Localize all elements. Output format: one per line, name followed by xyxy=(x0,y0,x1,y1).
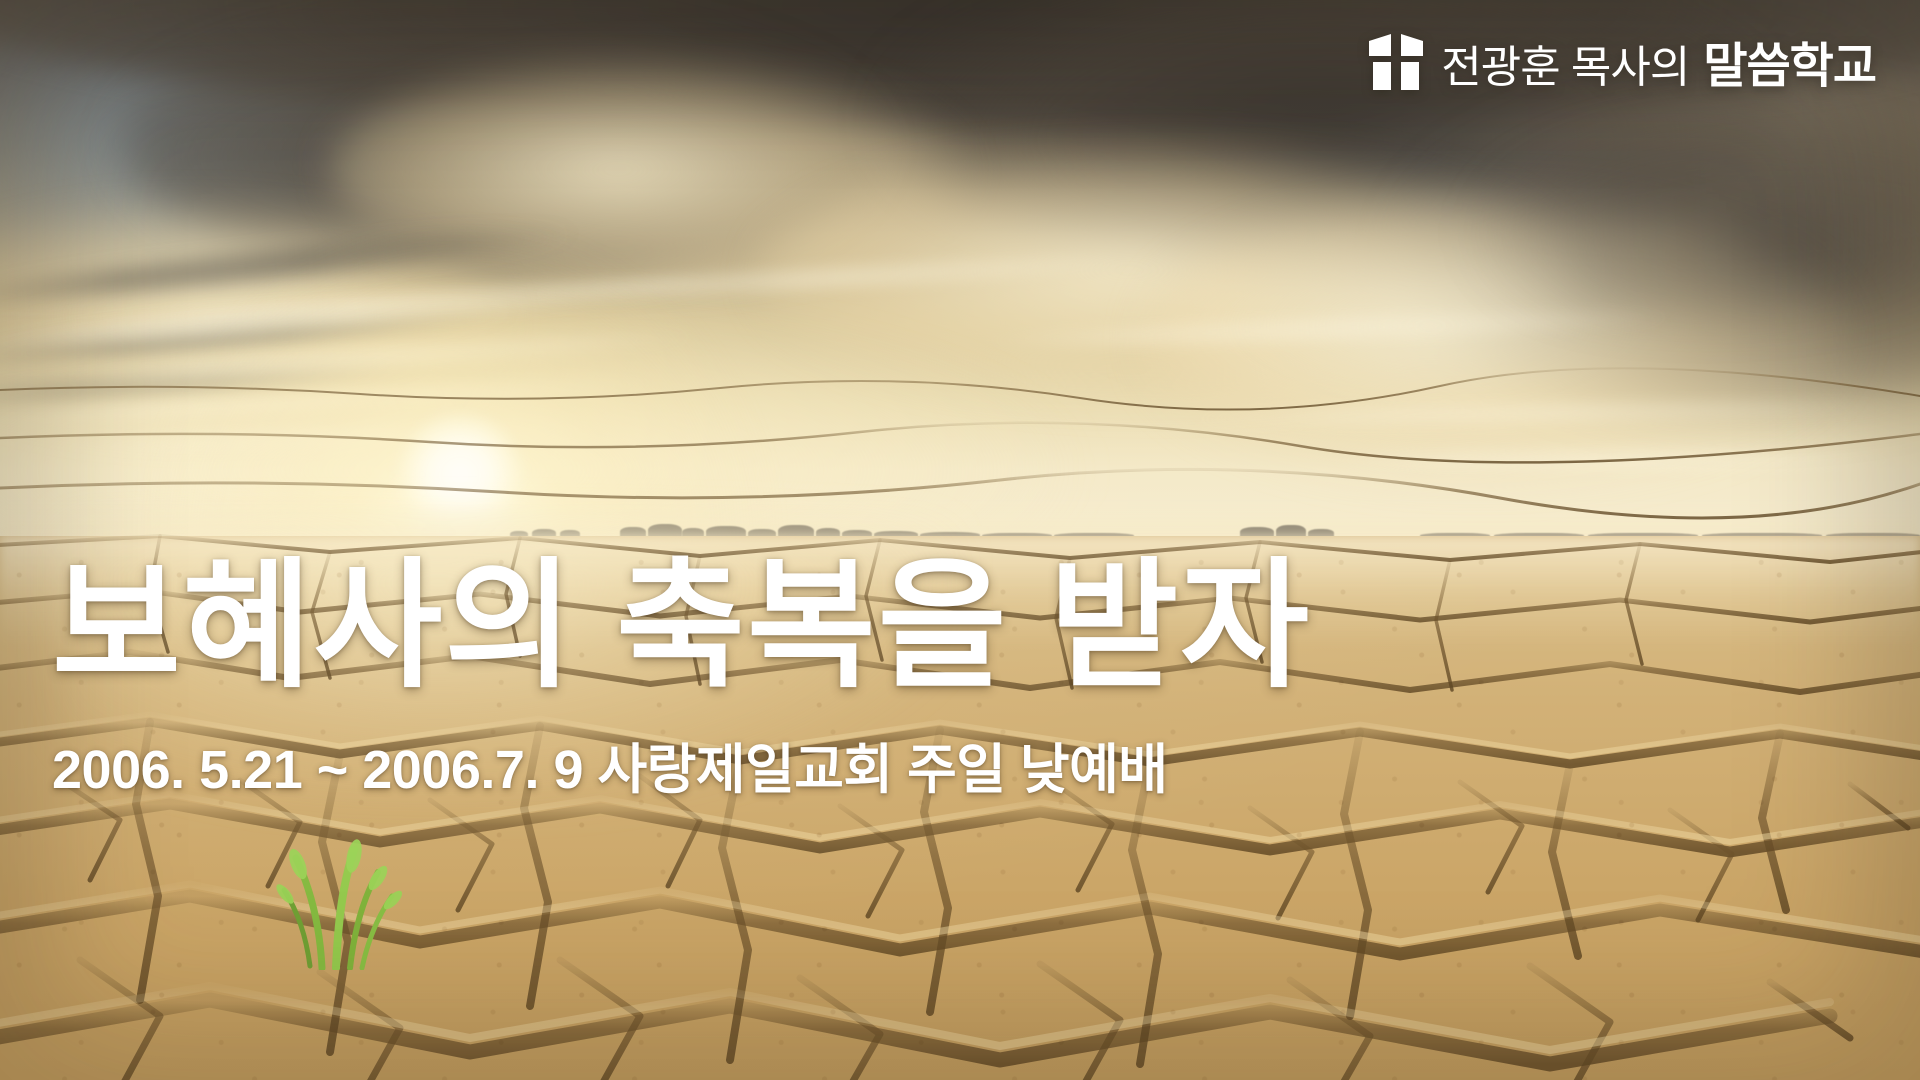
church-window-cross-icon xyxy=(1367,30,1425,92)
sermon-title-slide: 전광훈 목사의 말씀학교 보혜사의 축복을 받자 2006. 5.21 ~ 20… xyxy=(0,0,1920,1080)
brand-name-regular: 전광훈 목사의 xyxy=(1441,31,1689,95)
sermon-subtitle: 2006. 5.21 ~ 2006.7. 9 사랑제일교회 주일 낮예배 xyxy=(52,725,1311,804)
brand-name-bold: 말씀학교 xyxy=(1703,26,1876,96)
brand-lockup[interactable]: 전광훈 목사의 말씀학교 xyxy=(1367,26,1876,96)
brand-text: 전광훈 목사의 말씀학교 xyxy=(1441,26,1876,96)
title-block: 보혜사의 축복을 받자 2006. 5.21 ~ 2006.7. 9 사랑제일교… xyxy=(52,552,1311,804)
sermon-title: 보혜사의 축복을 받자 xyxy=(52,552,1311,699)
green-sprout-icon xyxy=(250,820,440,970)
